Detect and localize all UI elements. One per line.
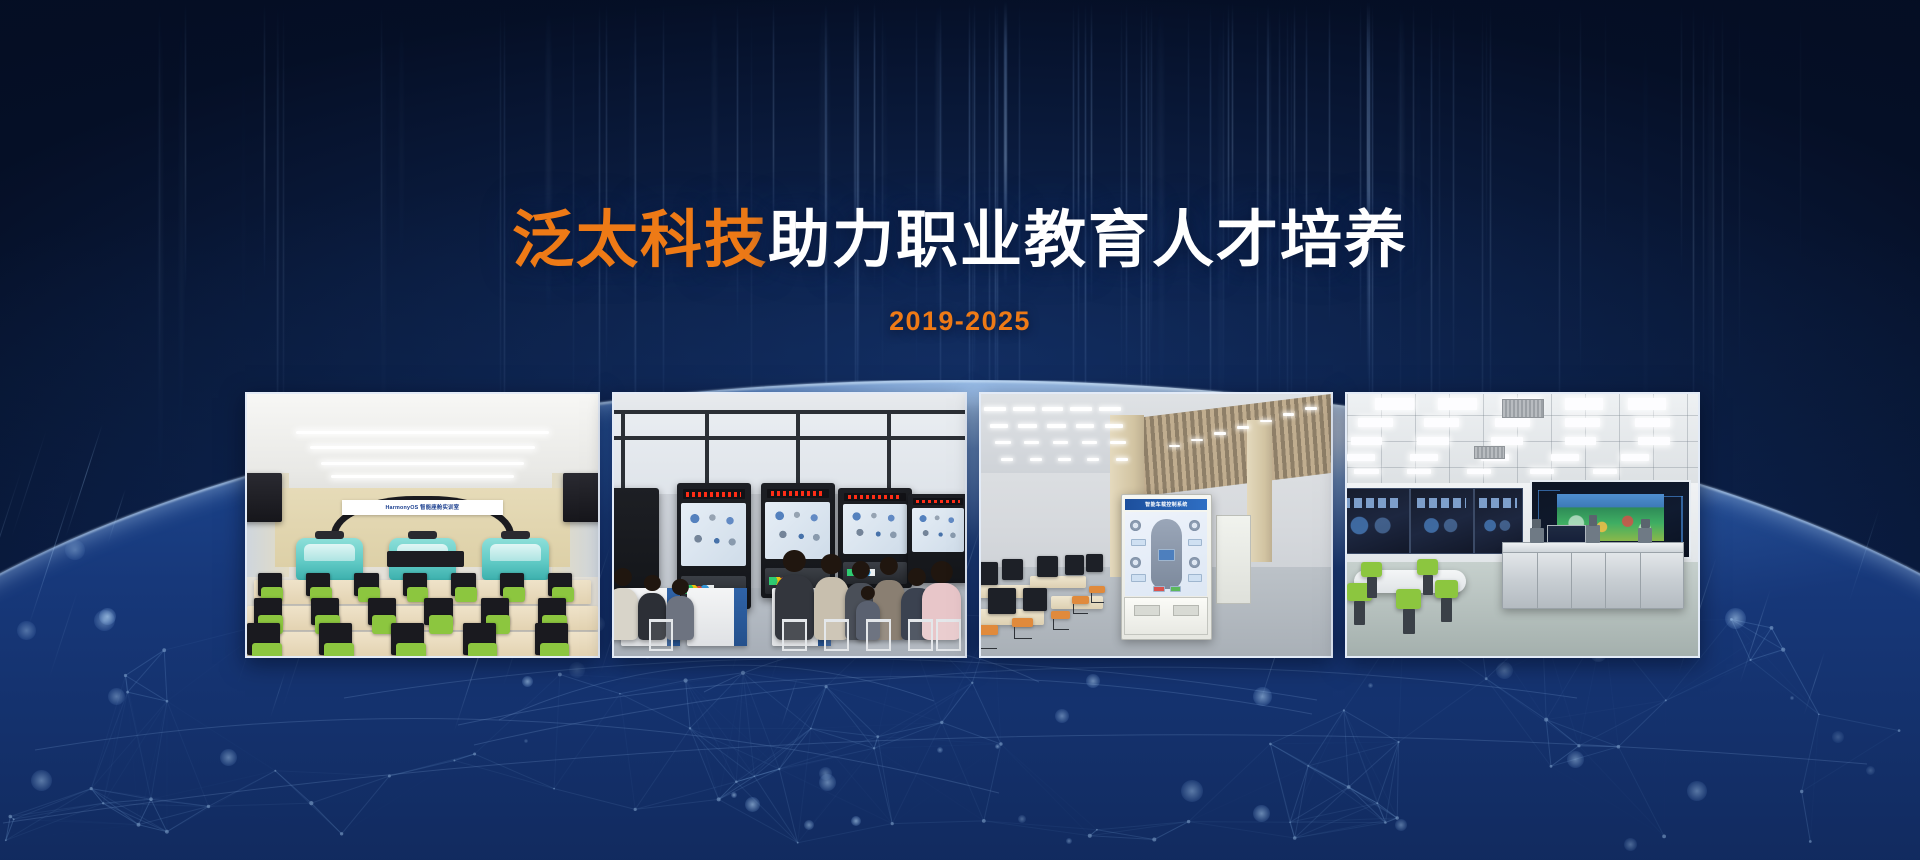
display-cabinet: 智能车载控制系统 [1121, 494, 1212, 641]
photo-hefei-lab: 智能车载控制系统 [981, 394, 1332, 656]
photo-hebei-lab [614, 394, 965, 656]
photo-frame [612, 392, 967, 658]
photo-frame: HarmonyOS 智能座舱实训室 [245, 392, 600, 658]
gallery-item-hebei[interactable]: 河北HEBEI [612, 392, 967, 658]
title-brand: 泛太科技 [512, 206, 768, 275]
photo-gallery: HarmonyOS 智能座舱实训室 深圳SHENZHEN [245, 392, 1700, 658]
photo-chongqing-lab [1347, 394, 1698, 656]
page-subtitle: 2019-2025 [0, 306, 1920, 337]
photo-frame: 智能车载控制系统 [979, 392, 1334, 658]
page-title: 泛太科技助力职业教育人才培养 [0, 206, 1920, 275]
title-rest: 助力职业教育人才培养 [768, 206, 1408, 275]
gallery-item-hefei[interactable]: 智能车载控制系统 [979, 392, 1334, 658]
hero-banner: 泛太科技助力职业教育人才培养 2019-2025 HarmonyOS 智能座舱实… [0, 0, 1920, 860]
cabinet-title: 智能车载控制系统 [1125, 499, 1207, 511]
photo-frame [1345, 392, 1700, 658]
gallery-item-shenzhen[interactable]: HarmonyOS 智能座舱实训室 深圳SHENZHEN [245, 392, 600, 658]
photo-shenzhen-classroom: HarmonyOS 智能座舱实训室 [247, 394, 598, 656]
photo-banner-text: HarmonyOS 智能座舱实训室 [342, 500, 503, 514]
gallery-item-chongqing[interactable]: 重庆CHONGQING [1345, 392, 1700, 658]
